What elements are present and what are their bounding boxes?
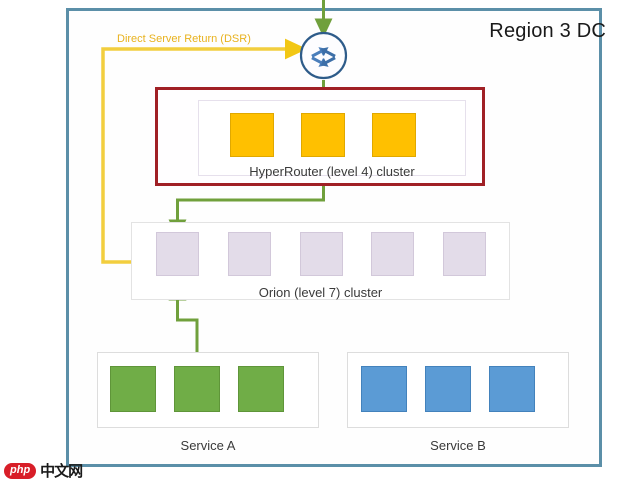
service-b-label: Service B xyxy=(347,438,569,453)
router-icon xyxy=(299,31,348,80)
orion-node-2[interactable] xyxy=(228,232,271,276)
hyperrouter-cluster-label: HyperRouter (level 4) cluster xyxy=(198,164,466,179)
page-title: Region 3 DC xyxy=(489,20,606,43)
dsr-flow-label: Direct Server Return (DSR) xyxy=(117,33,251,45)
watermark-badge: php xyxy=(4,463,36,479)
hyperrouter-node-2[interactable] xyxy=(301,113,345,157)
orion-node-1[interactable] xyxy=(156,232,199,276)
orion-node-4[interactable] xyxy=(371,232,414,276)
service-b-node-3[interactable] xyxy=(489,366,535,412)
service-a-node-1[interactable] xyxy=(110,366,156,412)
service-a-node-3[interactable] xyxy=(238,366,284,412)
service-b-node-2[interactable] xyxy=(425,366,471,412)
service-a-node-2[interactable] xyxy=(174,366,220,412)
watermark-text: 中文网 xyxy=(40,460,82,481)
diagram-canvas: Region 3 DC xyxy=(0,0,626,484)
service-a-label: Service A xyxy=(97,438,319,453)
hyperrouter-node-1[interactable] xyxy=(230,113,274,157)
orion-node-3[interactable] xyxy=(300,232,343,276)
orion-node-5[interactable] xyxy=(443,232,486,276)
service-b-node-1[interactable] xyxy=(361,366,407,412)
watermark: php 中文网 xyxy=(4,460,82,481)
hyperrouter-node-3[interactable] xyxy=(372,113,416,157)
orion-cluster-label: Orion (level 7) cluster xyxy=(131,285,510,300)
